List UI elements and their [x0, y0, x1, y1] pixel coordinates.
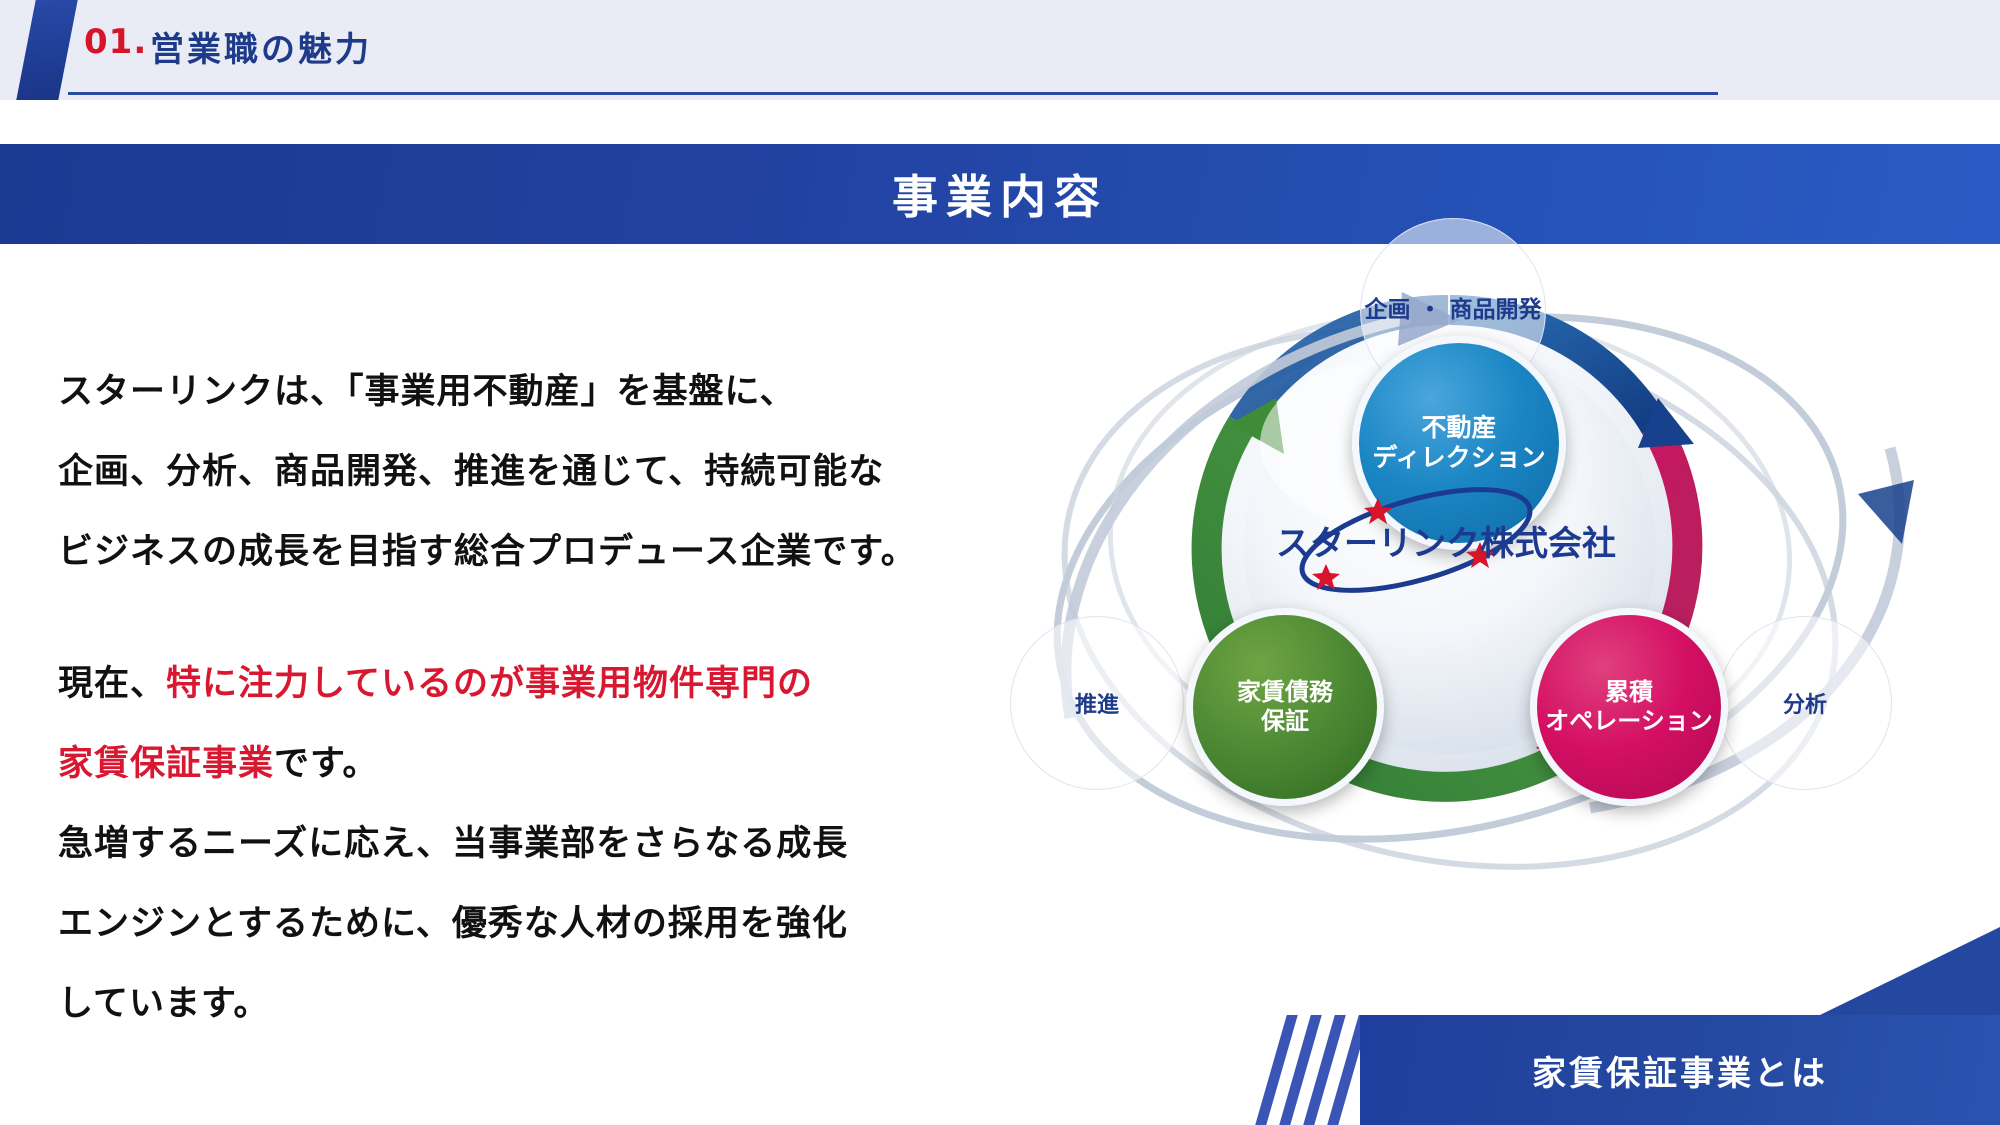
- next-section-label: 家賃保証事業とは: [1532, 1046, 1828, 1095]
- node-label-line1: 不動産: [1421, 413, 1496, 444]
- node-label-line1: 累積: [1605, 678, 1653, 707]
- body-copy: スターリンクは、「事業用不動産」を基盤に、 企画、分析、商品開発、推進を通じて、…: [58, 352, 1068, 1044]
- diagram-node-cumulative-operation: 累積 オペレーション: [1530, 608, 1728, 806]
- copy-line: 急増するニーズに応え、当事業部をさらなる成長: [58, 804, 1068, 884]
- node-label-line2: 保証: [1261, 707, 1309, 736]
- paragraph-spacer: [58, 592, 1068, 644]
- company-logo: スターリンク株式会社: [1266, 480, 1626, 600]
- diagram-outer-label-analysis: 分析: [1718, 616, 1892, 790]
- copy-line: スターリンクは、「事業用不動産」を基盤に、: [58, 352, 1068, 432]
- outer-label-line1: 企画: [1364, 297, 1410, 323]
- diagram-outer-label-promotion: 推進: [1010, 616, 1184, 790]
- ribbon-stripes: [1250, 1015, 1360, 1125]
- header-accent-bar: [16, 0, 77, 100]
- copy-line: 企画、分析、商品開発、推進を通じて、持続可能な: [58, 432, 1068, 512]
- ribbon-arrow: [1820, 927, 2000, 1015]
- next-section-ribbon[interactable]: 家賃保証事業とは: [1360, 1015, 2000, 1125]
- copy-segment-highlight: 家賃保証事業: [58, 744, 274, 784]
- copy-segment-highlight: 特に注力しているのが事業用物件専門の: [166, 664, 813, 704]
- copy-line-highlight-1: 現在、特に注力しているのが事業用物件専門の: [58, 644, 1068, 724]
- node-label-line2: オペレーション: [1545, 707, 1713, 736]
- outer-label-dot: ・: [1419, 297, 1442, 323]
- copy-segment: です。: [274, 744, 379, 784]
- node-label-line2: ディレクション: [1372, 443, 1545, 474]
- header-divider: [68, 92, 1718, 95]
- copy-segment: 現在、: [58, 664, 166, 704]
- copy-line: エンジンとするために、優秀な人材の採用を強化: [58, 884, 1068, 964]
- copy-line-highlight-2: 家賃保証事業です。: [58, 724, 1068, 804]
- diagram-node-rent-guarantee: 家賃債務 保証: [1186, 608, 1384, 806]
- business-cycle-diagram: 企画 ・ 商品開発 推進 分析 不動産 ディレクション 家賃債務 保証 累積 オ…: [1030, 248, 1960, 968]
- banner-title: 事業内容: [892, 161, 1108, 227]
- section-title: 営業職の魅力: [150, 22, 372, 71]
- node-label-line1: 家賃債務: [1237, 678, 1333, 707]
- outer-label-line2: 商品開発: [1450, 297, 1542, 323]
- company-logo-text: スターリンク株式会社: [1276, 516, 1616, 565]
- slide-header: 01. 営業職の魅力: [0, 0, 2000, 100]
- copy-line: ビジネスの成長を目指す総合プロデュース企業です。: [58, 512, 1068, 592]
- section-number: 01.: [84, 22, 147, 62]
- copy-line: しています。: [58, 964, 1068, 1044]
- banner: 事業内容: [0, 144, 2000, 244]
